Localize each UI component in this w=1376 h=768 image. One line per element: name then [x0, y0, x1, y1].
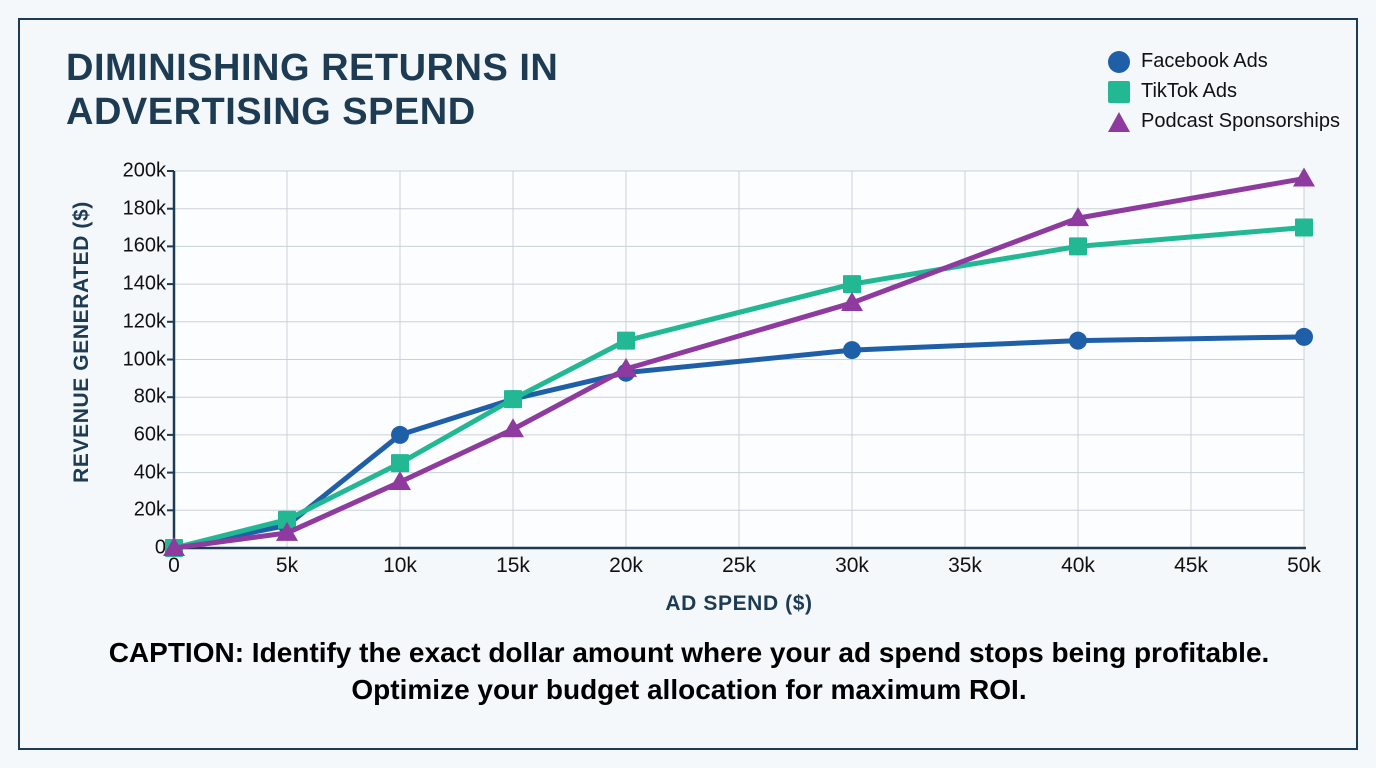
- data-point-circle: [843, 341, 861, 359]
- data-point-square: [1295, 219, 1313, 237]
- data-point-square: [843, 275, 861, 293]
- data-point-circle: [1295, 328, 1313, 346]
- data-point-square: [504, 390, 522, 408]
- chart-caption: CAPTION: Identify the exact dollar amoun…: [74, 634, 1304, 708]
- x-axis-title: AD SPEND ($): [174, 592, 1304, 616]
- data-point-square: [617, 332, 635, 350]
- data-point-circle: [391, 426, 409, 444]
- chart-card: DIMINISHING RETURNS IN ADVERTISING SPEND…: [18, 18, 1358, 750]
- data-point-square: [1069, 237, 1087, 255]
- data-point-circle: [1069, 332, 1087, 350]
- data-point-square: [391, 454, 409, 472]
